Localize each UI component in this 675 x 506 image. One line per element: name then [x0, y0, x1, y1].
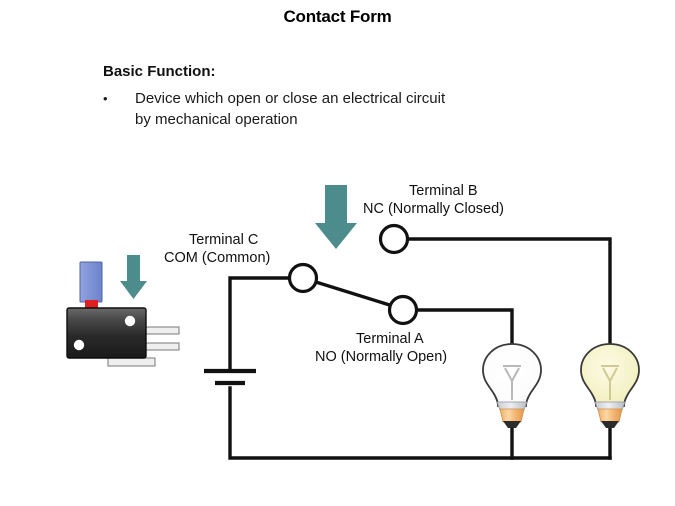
battery-symbol — [204, 371, 256, 383]
label-terminal-c: Terminal C COM (Common) — [189, 231, 270, 267]
switch-plunger-tip — [85, 300, 98, 308]
lamp-off-base — [500, 409, 524, 422]
lamp-off — [483, 344, 541, 428]
lamp-off-tip — [503, 421, 521, 428]
label-terminal-a-line2: NO (Normally Open) — [315, 348, 447, 366]
lamp-lit-base — [598, 409, 622, 422]
label-terminal-b-line1: Terminal B — [409, 182, 504, 200]
no-contact-circle — [390, 297, 417, 324]
switch-plunger — [80, 262, 102, 302]
label-terminal-a: Terminal A NO (Normally Open) — [356, 330, 447, 366]
microswitch — [67, 262, 179, 366]
switch-mount-hole-top — [125, 316, 135, 326]
label-terminal-c-line2: COM (Common) — [164, 249, 270, 267]
wire-com-to-battery — [230, 278, 290, 370]
circuit-diagram: Terminal C COM (Common) Terminal B NC (N… — [0, 0, 675, 506]
lamp-lit-tip — [601, 421, 619, 428]
actuation-arrow-switch — [120, 255, 147, 299]
contact-circles — [290, 226, 417, 324]
com-contact-circle — [290, 265, 317, 292]
label-terminal-b: Terminal B NC (Normally Closed) — [409, 182, 504, 218]
label-terminal-a-line1: Terminal A — [356, 330, 447, 348]
actuation-arrow-contact — [315, 185, 357, 249]
wire-battery-to-bottom-rail — [230, 388, 610, 458]
circuit-diagram-svg — [0, 0, 675, 506]
label-terminal-b-line2: NC (Normally Closed) — [363, 200, 504, 218]
label-terminal-c-line1: Terminal C — [189, 231, 270, 249]
nc-contact-circle — [381, 226, 408, 253]
switch-mount-hole-bottom — [74, 340, 84, 350]
switch-body — [67, 308, 146, 358]
lamp-lit — [581, 344, 639, 428]
